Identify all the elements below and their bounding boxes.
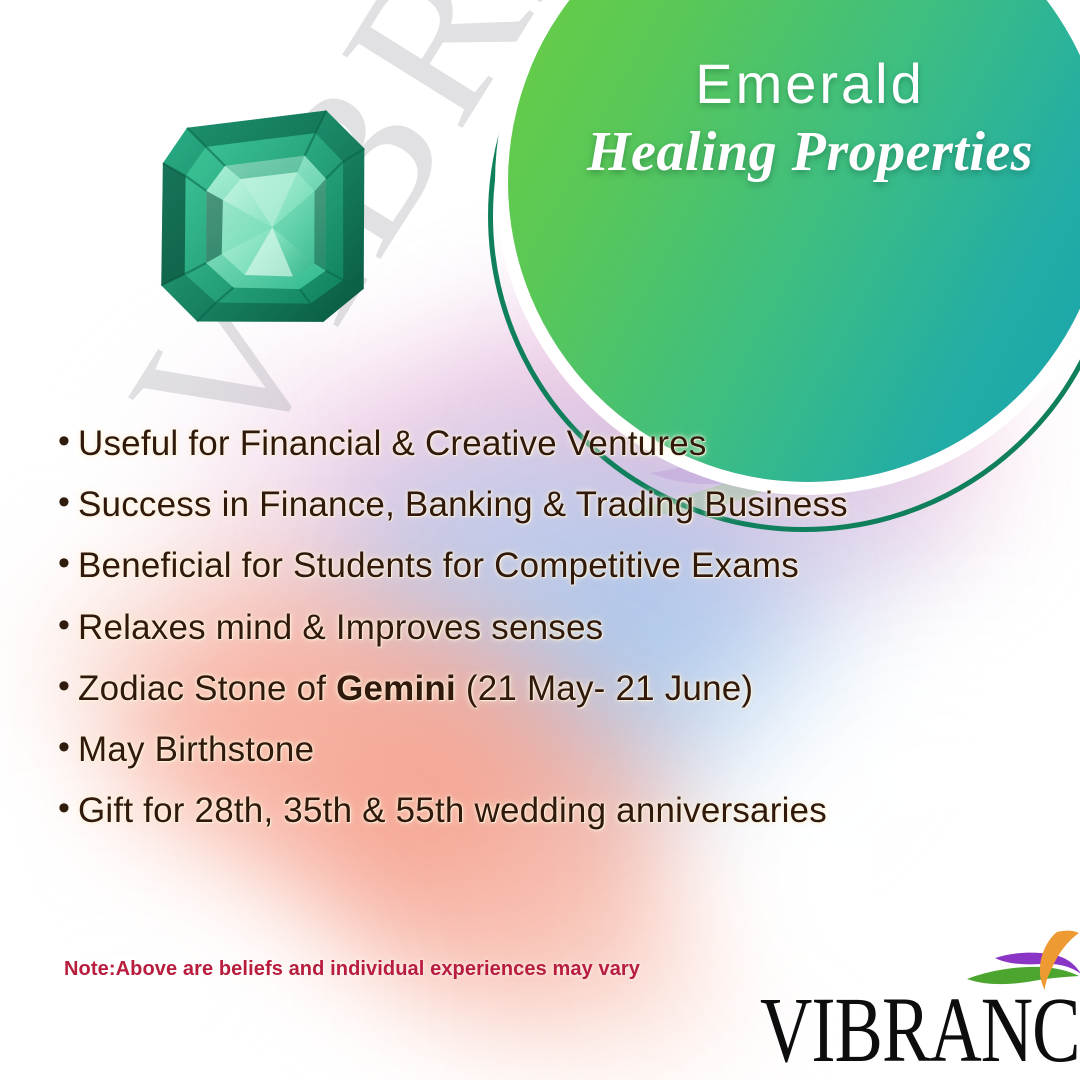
zodiac-prefix: Zodiac Stone of xyxy=(78,669,336,708)
list-item-label: Relaxes mind & Improves senses xyxy=(78,608,603,647)
wash-coral-d xyxy=(430,860,760,1050)
list-item: • Beneficial for Students for Competitiv… xyxy=(58,546,1048,585)
list-item: • Success in Finance, Banking & Trading … xyxy=(58,485,1048,524)
list-item: • Useful for Financial & Creative Ventur… xyxy=(58,424,1048,463)
bullet-dot-icon: • xyxy=(58,608,78,642)
healing-properties-list: • Useful for Financial & Creative Ventur… xyxy=(58,424,1048,852)
list-item: • Gift for 28th, 35th & 55th wedding ann… xyxy=(58,791,1048,830)
list-item-label: May Birthstone xyxy=(78,730,314,769)
list-item: • Relaxes mind & Improves senses xyxy=(58,608,1048,647)
list-item: • Zodiac Stone of Gemini (21 May- 21 Jun… xyxy=(58,669,1048,708)
disclaimer-note: Note:Above are beliefs and individual ex… xyxy=(64,958,640,981)
brand-wordmark: VIBRANCYS xyxy=(760,978,1074,1080)
bullet-dot-icon: • xyxy=(58,669,78,703)
bullet-dot-icon: • xyxy=(58,546,78,580)
bullet-dot-icon: • xyxy=(58,485,78,519)
emerald-gemstone-image xyxy=(142,102,381,339)
bullet-dot-icon: • xyxy=(58,730,78,764)
bullet-dot-icon: • xyxy=(58,791,78,825)
list-item-label: Success in Finance, Banking & Trading Bu… xyxy=(78,485,848,524)
list-item-label: Useful for Financial & Creative Ventures xyxy=(78,424,707,463)
bullet-dot-icon: • xyxy=(58,424,78,458)
brand-logo: VIBRANCYS xyxy=(760,930,1080,1060)
zodiac-date-range: (21 May- 21 June) xyxy=(456,669,753,708)
poster-canvas: VIBRANCYS Emerald Healing Properties xyxy=(0,0,1080,1080)
list-item-label: Gift for 28th, 35th & 55th wedding anniv… xyxy=(78,791,827,830)
list-item: • May Birthstone xyxy=(58,730,1048,769)
zodiac-sign-name: Gemini xyxy=(336,669,456,708)
list-item-label: Zodiac Stone of Gemini (21 May- 21 June) xyxy=(78,669,753,708)
list-item-label: Beneficial for Students for Competitive … xyxy=(78,546,799,585)
